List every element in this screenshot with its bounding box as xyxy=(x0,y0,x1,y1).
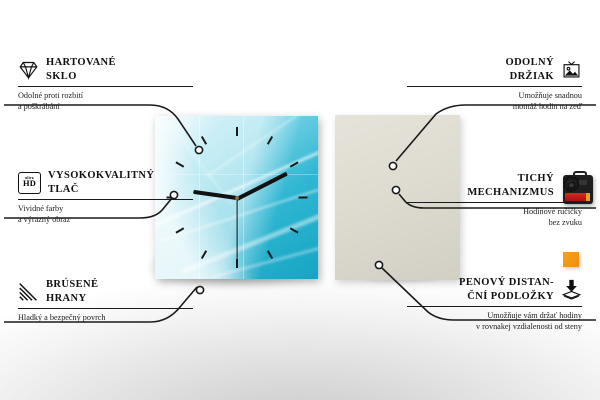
feature-desc: Umožňuje vám držať hodiny v rovnakej vzd… xyxy=(407,311,582,332)
foam-distance-pad xyxy=(563,252,579,267)
feather-streak xyxy=(206,116,318,177)
feature-title: BRÚSENÉ HRANY xyxy=(46,278,98,305)
divider xyxy=(407,202,582,203)
clock-tick xyxy=(298,197,307,199)
feature-head: PENOVÝ DISTAN- ČNÍ PODLOŽKY xyxy=(407,276,582,303)
feature-head: ultra HD VYSOKOKVALITNÝ TLAČ xyxy=(18,169,193,196)
foam-pad-arrow-icon xyxy=(561,279,582,300)
feature-title: HARTOVANÉ SKLO xyxy=(46,56,116,83)
infographic-canvas: HARTOVANÉ SKLO Odolné proti rozbití a po… xyxy=(0,0,600,400)
ultra-hd-icon: ultra HD xyxy=(18,172,41,194)
feature-title: ODOLNÝ DRŽIAK xyxy=(506,56,555,83)
desc-line-2: v rovnakej vzdialenosti od steny xyxy=(407,322,582,333)
desc-line-1: Vividné farby xyxy=(18,204,193,215)
title-line-2: MECHANIZMUS xyxy=(467,186,554,200)
feature-head: BRÚSENÉ HRANY xyxy=(18,278,193,305)
clock-tick xyxy=(200,250,206,259)
divider xyxy=(18,199,193,200)
feature-desc: Hladký a bezpečný povrch xyxy=(18,313,193,324)
clock-tick xyxy=(236,259,238,268)
title-line-2: ČNÍ PODLOŽKY xyxy=(459,290,554,304)
feature-head: HARTOVANÉ SKLO xyxy=(18,56,193,83)
title-line-1: PENOVÝ DISTAN- xyxy=(459,276,554,290)
divider xyxy=(407,86,582,87)
second-hand xyxy=(236,198,237,260)
desc-line-1: Hodinové ručičky xyxy=(407,207,582,218)
clock-tick xyxy=(175,161,184,167)
feature-hardened-glass: HARTOVANÉ SKLO Odolné proti rozbití a po… xyxy=(18,56,193,112)
clock-tick xyxy=(266,136,272,145)
feature-desc: Umožňuje snadnou montáž hodin na zeď xyxy=(407,91,582,112)
feature-head: ODOLNÝ DRŽIAK xyxy=(407,56,582,83)
feature-title: VYSOKOKVALITNÝ TLAČ xyxy=(48,169,154,196)
feature-foam-spacers: PENOVÝ DISTAN- ČNÍ PODLOŽKY Umožňuje vám… xyxy=(407,276,582,332)
desc-line-1: Hladký a bezpečný povrch xyxy=(18,313,193,324)
desc-line-1: Odolné proti rozbití xyxy=(18,91,193,102)
feature-beveled-edges: BRÚSENÉ HRANY Hladký a bezpečný povrch xyxy=(18,278,193,324)
clock-tick xyxy=(266,250,272,259)
title-line-1: VYSOKOKVALITNÝ xyxy=(48,169,154,183)
beveled-edges-icon xyxy=(18,281,39,302)
title-line-1: ODOLNÝ xyxy=(506,56,555,70)
title-line-2: DRŽIAK xyxy=(506,70,555,84)
diamond-icon xyxy=(18,59,39,80)
desc-line-1: Umožňuje snadnou xyxy=(407,91,582,102)
clock-center-pin xyxy=(235,196,239,200)
feature-title: PENOVÝ DISTAN- ČNÍ PODLOŽKY xyxy=(459,276,554,303)
divider xyxy=(407,306,582,307)
desc-line-2: montáž hodin na zeď xyxy=(407,102,582,113)
title-line-2: TLAČ xyxy=(48,183,154,197)
feature-desc: Vividné farby a výrazný obraz xyxy=(18,204,193,225)
feature-high-quality-print: ultra HD VYSOKOKVALITNÝ TLAČ Vividné far… xyxy=(18,169,193,225)
feature-desc: Hodinové ručičky bez zvuku xyxy=(407,207,582,228)
desc-line-2: bez zvuku xyxy=(407,218,582,229)
title-line-1: BRÚSENÉ xyxy=(46,278,98,292)
title-line-2: HRANY xyxy=(46,292,98,306)
feature-title: TICHÝ MECHANIZMUS xyxy=(467,172,554,199)
desc-line-2: a výrazný obraz xyxy=(18,215,193,226)
title-line-2: SKLO xyxy=(46,70,116,84)
clock-tick xyxy=(200,136,206,145)
feature-head: TICHÝ MECHANIZMUS xyxy=(407,172,582,199)
glass-seam xyxy=(199,116,200,279)
title-line-1: HARTOVANÉ xyxy=(46,56,116,70)
divider xyxy=(18,86,193,87)
feather-streak xyxy=(212,237,318,279)
clock-tick xyxy=(236,127,238,136)
desc-line-2: a poškrábání xyxy=(18,102,193,113)
desc-line-1: Umožňuje vám držať hodiny xyxy=(407,311,582,322)
divider xyxy=(18,308,193,309)
feature-desc: Odolné proti rozbití a poškrábání xyxy=(18,91,193,112)
picture-hanger-icon xyxy=(561,59,582,80)
gear-icon xyxy=(561,175,582,196)
feature-silent-mechanism: TICHÝ MECHANIZMUS Hodinové ručičky bez z… xyxy=(407,172,582,228)
title-line-1: TICHÝ xyxy=(467,172,554,186)
feature-durable-hanger: ODOLNÝ DRŽIAK Umožňuje snadnou montáž ho… xyxy=(407,56,582,112)
hd-label: HD xyxy=(23,180,36,188)
